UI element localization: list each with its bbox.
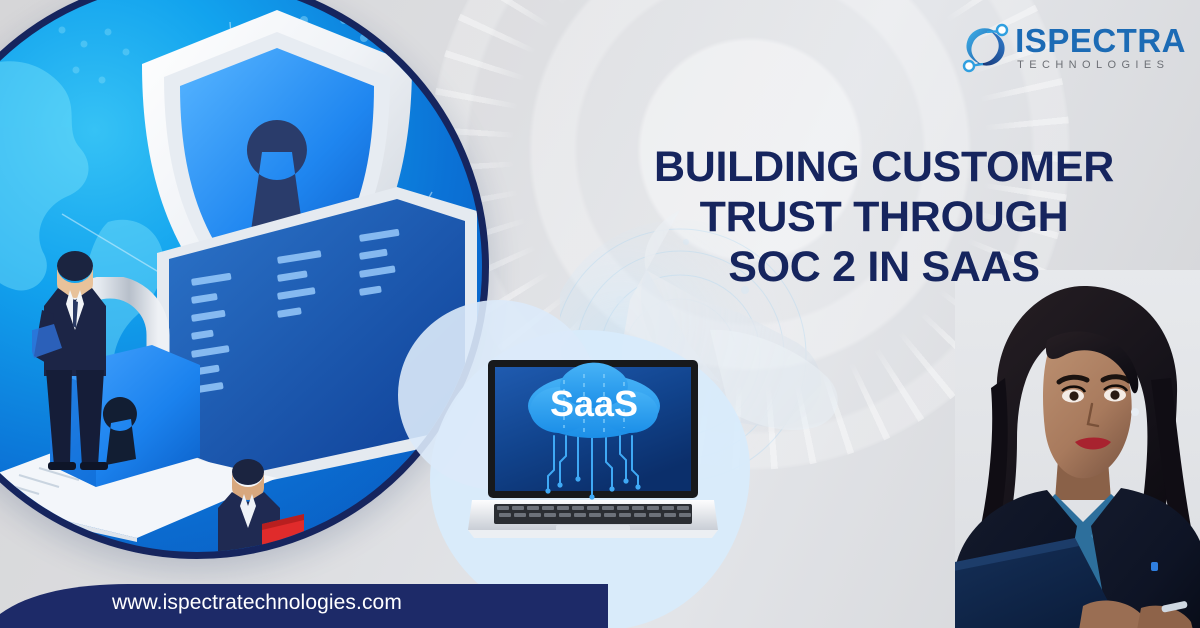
logo-tagline: TECHNOLOGIES: [1017, 60, 1186, 71]
businessman-figure-icon: [32, 244, 118, 474]
saas-cloud-label: SaaS: [550, 383, 638, 424]
website-url: www.ispectratechnologies.com: [112, 591, 402, 615]
promo-banner: SaaS: [0, 0, 1200, 628]
headline-line-3: SOC 2 IN SAAS: [596, 243, 1172, 293]
logo-name: ISPECTRA: [1015, 24, 1186, 57]
page-title: BUILDING CUSTOMER TRUST THROUGH SOC 2 IN…: [596, 143, 1172, 293]
businesswoman-photo: [955, 270, 1200, 628]
businessman-figure-secondary-icon: [208, 454, 304, 559]
brand-logo[interactable]: ISPECTRA TECHNOLOGIES: [957, 14, 1186, 80]
spectra-s-node-icon: [957, 19, 1013, 75]
headline-line-1: BUILDING CUSTOMER: [596, 143, 1172, 193]
laptop-saas-icon: SaaS: [468, 358, 718, 563]
website-url-bar: www.ispectratechnologies.com: [0, 580, 608, 628]
security-illustration-circle: [0, 0, 489, 559]
headline-line-2: TRUST THROUGH: [596, 193, 1172, 243]
